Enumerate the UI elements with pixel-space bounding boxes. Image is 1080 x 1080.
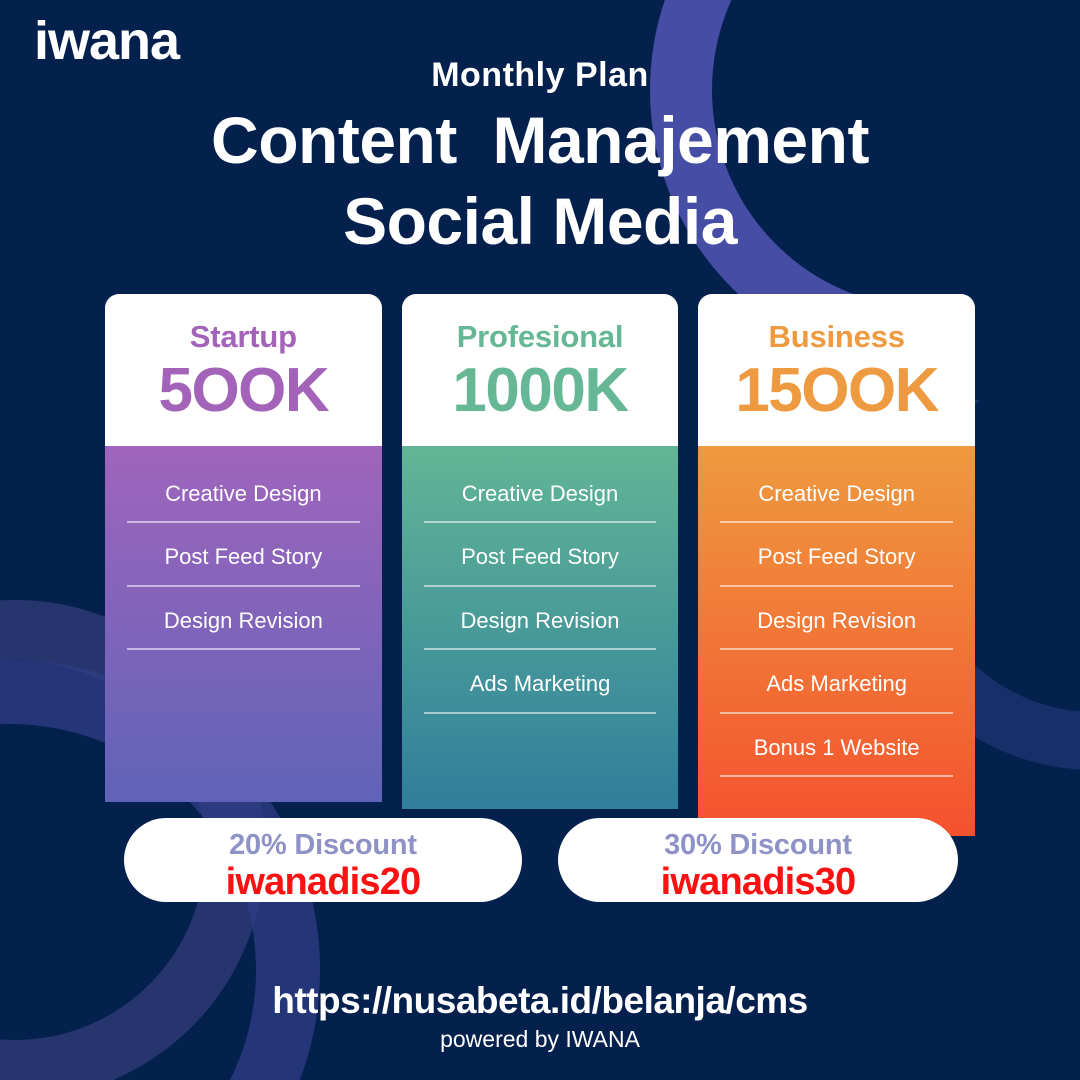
feature-item: Design Revision <box>720 607 953 651</box>
discount-label: 30% Discount <box>558 829 958 861</box>
feature-item: Post Feed Story <box>424 543 657 587</box>
footer-block: https://nusabeta.id/belanja/cms powered … <box>0 980 1080 1053</box>
feature-item: Ads Marketing <box>424 670 657 714</box>
feature-item: Creative Design <box>127 480 360 524</box>
feature-item: Creative Design <box>424 480 657 524</box>
card-header: Profesional 1000K <box>402 294 679 446</box>
feature-item: Ads Marketing <box>720 670 953 714</box>
card-header: Startup 5OOK <box>105 294 382 446</box>
card-header: Business 15OOK <box>698 294 975 446</box>
card-feature-list: Creative Design Post Feed Story Design R… <box>402 446 679 809</box>
discount-badge-30[interactable]: 30% Discount iwanadis30 <box>558 818 958 902</box>
header-kicker: Monthly Plan <box>0 56 1080 95</box>
header-block: Monthly Plan Content Manajement Social M… <box>0 56 1080 258</box>
plan-name: Profesional <box>410 320 671 354</box>
pricing-poster: iwana Monthly Plan Content Manajement So… <box>0 0 1080 1080</box>
card-feature-list: Creative Design Post Feed Story Design R… <box>698 446 975 836</box>
feature-item: Post Feed Story <box>720 543 953 587</box>
pricing-card-list: Startup 5OOK Creative Design Post Feed S… <box>105 294 975 836</box>
feature-item: Design Revision <box>424 607 657 651</box>
plan-price: 5OOK <box>113 356 374 425</box>
card-feature-list: Creative Design Post Feed Story Design R… <box>105 446 382 802</box>
footer-url[interactable]: https://nusabeta.id/belanja/cms <box>0 980 1080 1023</box>
feature-item: Creative Design <box>720 480 953 524</box>
feature-item: Post Feed Story <box>127 543 360 587</box>
discount-badge-20[interactable]: 20% Discount iwanadis20 <box>124 818 522 902</box>
plan-name: Startup <box>113 320 374 354</box>
feature-item: Bonus 1 Website <box>720 734 953 778</box>
pricing-card-startup[interactable]: Startup 5OOK Creative Design Post Feed S… <box>105 294 382 836</box>
discount-code: iwanadis20 <box>124 861 522 904</box>
plan-price: 1000K <box>410 356 671 425</box>
footer-powered-by: powered by IWANA <box>0 1026 1080 1054</box>
plan-name: Business <box>706 320 967 354</box>
discount-code: iwanadis30 <box>558 861 958 904</box>
header-title-line2: Social Media <box>0 186 1080 257</box>
pricing-card-business[interactable]: Business 15OOK Creative Design Post Feed… <box>698 294 975 836</box>
pricing-card-profesional[interactable]: Profesional 1000K Creative Design Post F… <box>402 294 679 836</box>
plan-price: 15OOK <box>706 356 967 425</box>
header-title-line1: Content Manajement <box>0 105 1080 176</box>
feature-item: Design Revision <box>127 607 360 651</box>
discount-label: 20% Discount <box>124 829 522 861</box>
